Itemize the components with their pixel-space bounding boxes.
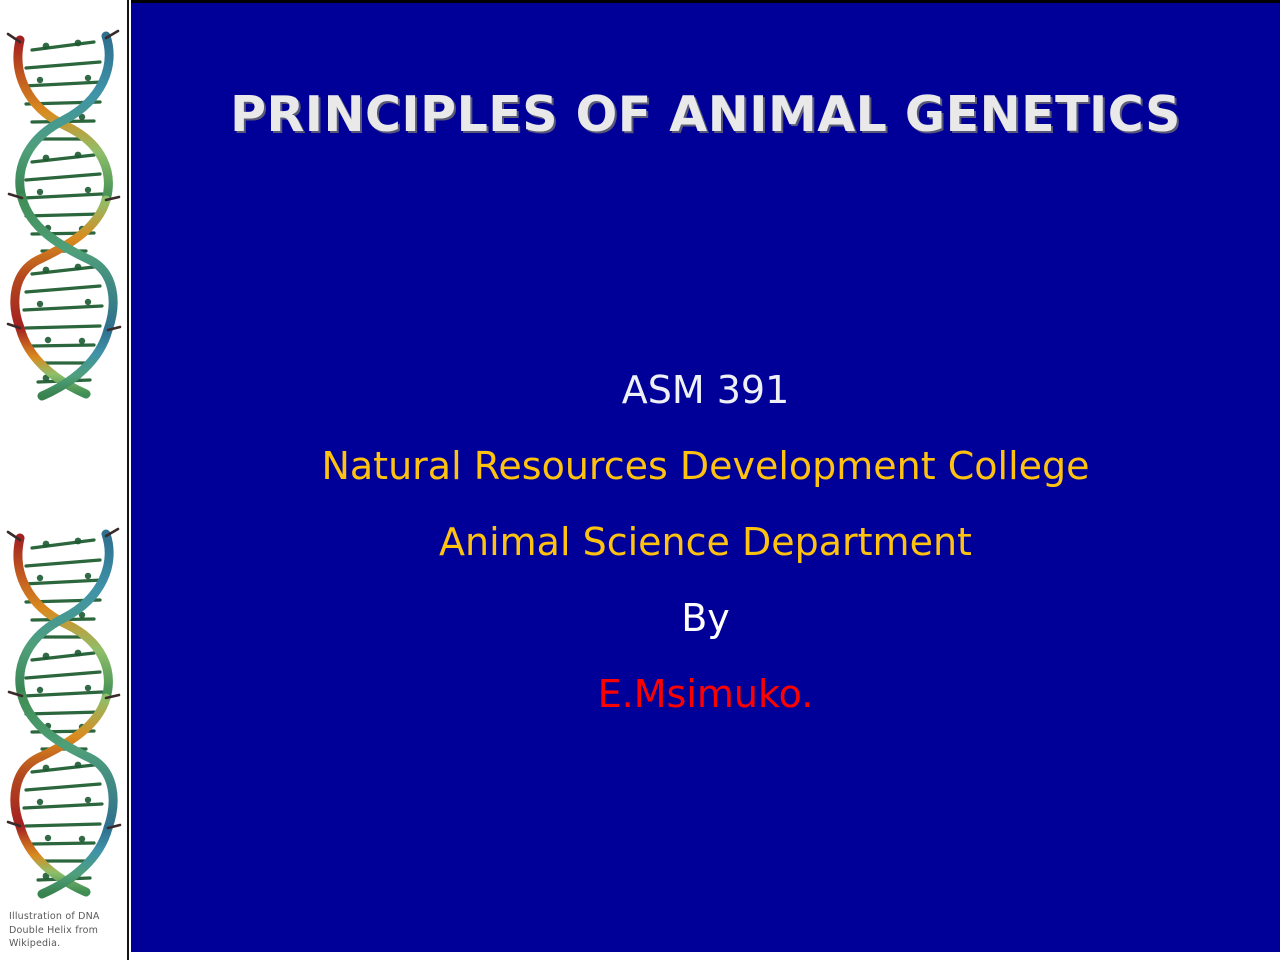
page-title: PRINCIPLES OF ANIMAL GENETICS — [131, 86, 1280, 143]
dna-helix-icon — [0, 22, 128, 412]
byline-label: By — [131, 580, 1280, 656]
department-name-line: Animal Science Department — [131, 504, 1280, 580]
author-name-line: E.Msimuko. — [131, 656, 1280, 732]
college-name-line: Natural Resources Development College — [131, 428, 1280, 504]
dna-helix-icon — [0, 520, 128, 910]
dna-image-caption: Illustration of DNA Double Helix from Wi… — [9, 910, 121, 951]
subtitle-block: ASM 391 Natural Resources Development Co… — [131, 352, 1280, 732]
presentation-slide: Illustration of DNA Double Helix from Wi… — [0, 0, 1280, 960]
sidebar-dna-panel: Illustration of DNA Double Helix from Wi… — [0, 0, 129, 960]
course-code-line: ASM 391 — [131, 352, 1280, 428]
bottom-divider — [131, 952, 1280, 960]
dna-double-helix-image-top — [0, 22, 128, 412]
slide-content-area: PRINCIPLES OF ANIMAL GENETICS ASM 391 Na… — [131, 0, 1280, 960]
dna-double-helix-image-bottom — [0, 520, 128, 910]
top-divider — [131, 0, 1280, 3]
